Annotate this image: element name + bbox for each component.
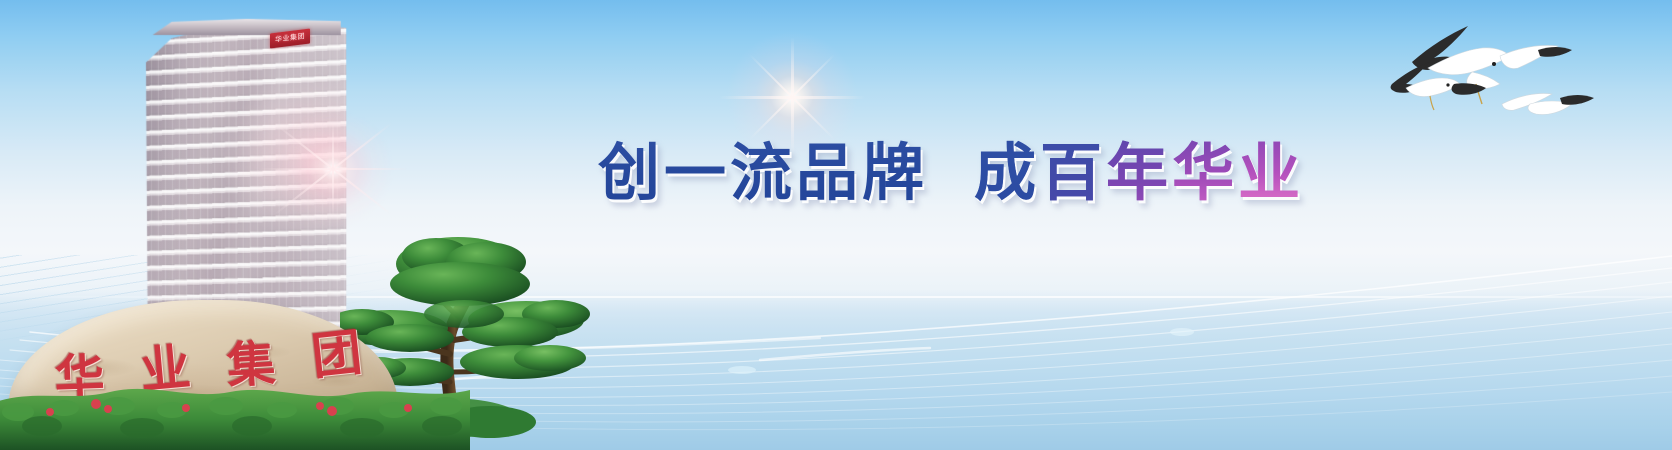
slogan-text: 创一流品牌 成百年华业 — [598, 132, 1358, 214]
slogan-char: 华 — [1172, 132, 1238, 214]
seagull-group-icon — [1372, 0, 1672, 130]
slogan-part-one: 创一流品牌 — [598, 132, 928, 214]
slogan-char: 成 — [974, 132, 1040, 214]
slogan-char: 业 — [1238, 132, 1304, 214]
slogan-char: 百 — [1040, 132, 1106, 214]
green-hedge — [0, 378, 470, 450]
corporate-hero-banner: 华业集团 — [0, 0, 1672, 450]
seagull-icon — [1502, 93, 1594, 114]
slogan-part-two: 成百年华业 — [974, 132, 1304, 214]
tower-roof-cap — [147, 19, 341, 35]
slogan-char: 年 — [1106, 132, 1172, 214]
